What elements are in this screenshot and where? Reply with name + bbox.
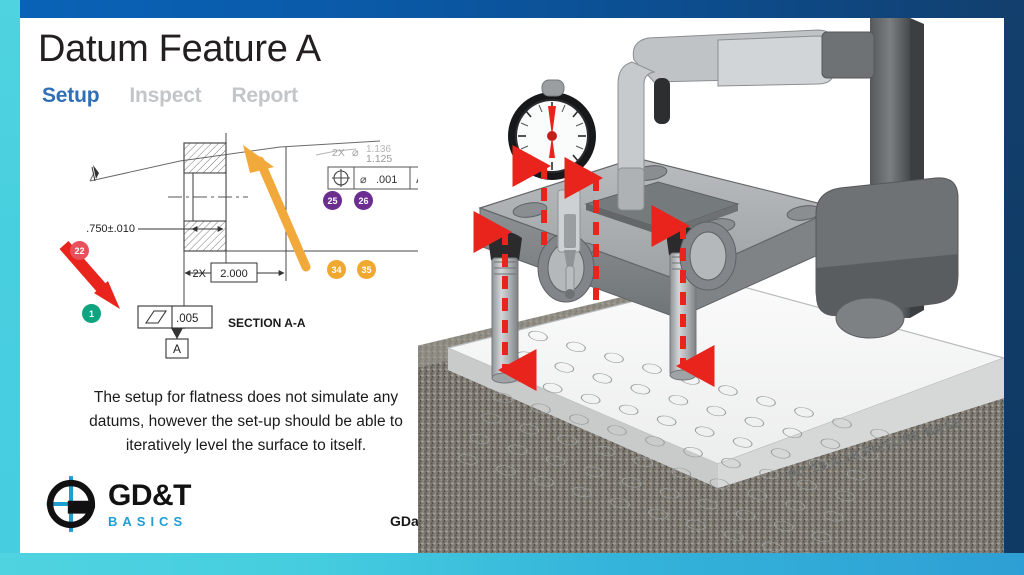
callout-bubble-label: 25 bbox=[327, 196, 337, 206]
slide-border-bottom bbox=[0, 553, 1024, 575]
callout-bubble-22[interactable]: 22 bbox=[70, 241, 89, 260]
position-diameter-modifier: ⌀ bbox=[360, 174, 367, 186]
slide-canvas: Datum Feature A Setup Inspect Report bbox=[20, 18, 1004, 553]
slide-border-left bbox=[0, 0, 20, 575]
callout-bubble-26[interactable]: 26 bbox=[354, 191, 373, 210]
callout-bubble-label: 1 bbox=[89, 309, 94, 319]
hole-callout-symbol: ⌀ bbox=[352, 147, 359, 159]
hole-callout-qty: 2X bbox=[332, 147, 345, 159]
dimension-hole-spacing-prefix: 2X bbox=[193, 268, 207, 280]
callout-bubble-25[interactable]: 25 bbox=[323, 191, 342, 210]
callout-bubble-35[interactable]: 35 bbox=[357, 260, 376, 279]
tab-setup[interactable]: Setup bbox=[42, 84, 99, 108]
callout-bubble-label: 34 bbox=[331, 265, 341, 275]
page-title: Datum Feature A bbox=[38, 30, 321, 68]
orange-pointer-arrow bbox=[243, 145, 306, 267]
slide-root: Datum Feature A Setup Inspect Report bbox=[0, 0, 1024, 575]
callout-bubble-label: 22 bbox=[74, 246, 84, 256]
datum-feature-letter: A bbox=[173, 342, 181, 356]
flatness-inspection-setup-illustration: PC 18 X 18 FIXTURE BASE bbox=[418, 18, 1004, 553]
hole-callout-lower: 1.125 bbox=[366, 153, 392, 165]
tab-inspect[interactable]: Inspect bbox=[129, 84, 201, 108]
callout-bubble-label: 35 bbox=[361, 265, 371, 275]
position-tolerance-value: .001 bbox=[376, 174, 397, 186]
callout-bubble-34[interactable]: 34 bbox=[327, 260, 346, 279]
tab-bar: Setup Inspect Report bbox=[42, 84, 298, 108]
body-text: The setup for flatness does not simulate… bbox=[68, 386, 424, 458]
gdt-basics-logo: GD&T BASICS bbox=[34, 473, 234, 535]
logo-secondary-text: BASICS bbox=[108, 515, 191, 528]
callout-bubble-1[interactable]: 1 bbox=[82, 304, 101, 323]
logo-primary-text: GD&T bbox=[108, 481, 191, 511]
slide-border-top bbox=[0, 0, 1024, 18]
dimension-wall-thickness: .750±.010 bbox=[86, 223, 135, 235]
flatness-tolerance-value: .005 bbox=[176, 313, 198, 325]
datum-target-icon bbox=[40, 475, 102, 533]
dimension-hole-spacing-value: 2.000 bbox=[220, 268, 248, 280]
tab-report[interactable]: Report bbox=[231, 84, 297, 108]
section-label: SECTION A-A bbox=[228, 316, 306, 330]
callout-bubble-label: 26 bbox=[358, 196, 368, 206]
